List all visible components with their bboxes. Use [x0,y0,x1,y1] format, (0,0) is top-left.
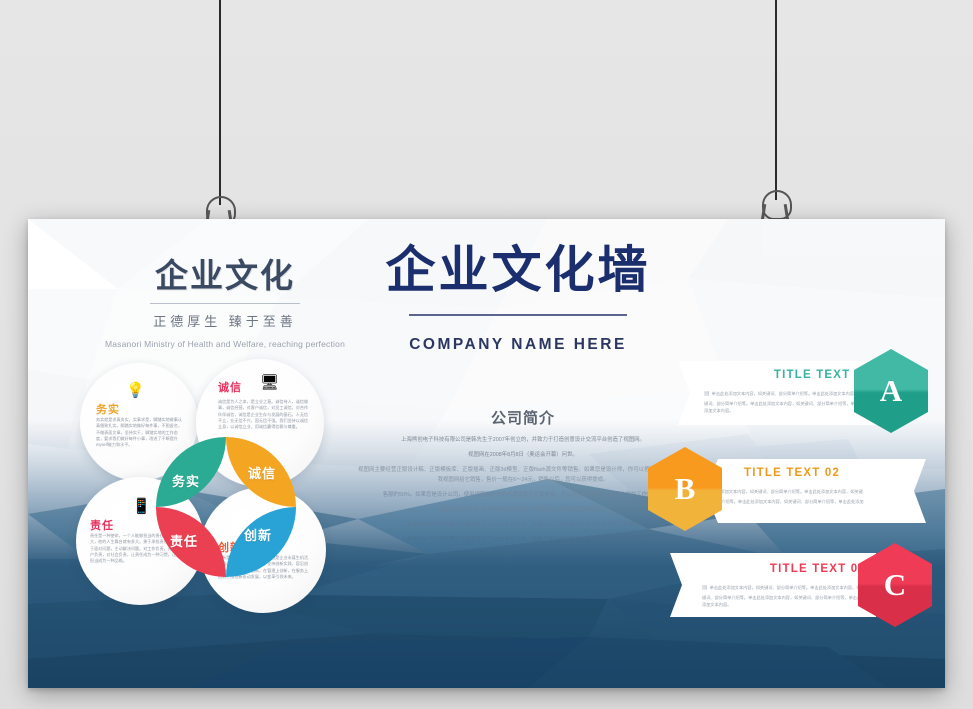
feature-row-c[interactable]: TITLE TEXT 03 单击此处添加文本内容，如关键词、部分简单介绍等。单击… [670,541,932,633]
hanging-wire-right [775,0,777,200]
feature-letter: C [884,567,906,603]
feature-letter: A [880,373,902,409]
pinwheel-label: 诚信 [248,463,276,482]
title-divider [409,314,627,316]
intro-paragraph: 视图网主要经营正版设计稿、正版模板库、正版插画、正版3d模型、正版flash源文… [358,465,688,485]
lightbulb-icon: 💡 [126,383,145,398]
intro-paragraph: 上海熊创电子科技有限公司是韩先生于2007年创立的，并致力于打造创意设计交流平台… [358,435,688,445]
pinwheel-segment-chuangxin[interactable]: 创新 [226,507,296,577]
center-heading-block: 企业文化墙 COMPANY NAME HERE [358,243,678,354]
feature-title: TITLE TEXT 03 [770,563,866,575]
intro-paragraph: 视图网在2008年8月8日（奥运会开幕）问世。 [358,450,688,460]
feature-title: TITLE TEXT 02 [744,467,840,479]
feature-row-a[interactable]: TITLE TEXT 01 单击此处添加文本内容，如关键词、部分简单介绍等。单击… [678,349,928,437]
pinwheel-segment-chengxin[interactable]: 诚信 [226,437,296,507]
feature-letter: B [675,471,696,507]
scene: 企业文化 正德厚生 臻于至善 Masanori Ministry of Heal… [0,0,973,709]
pinwheel-label: 责任 [170,531,198,550]
pinwheel-diagram: 务实 诚信 责任 创新 [156,437,296,577]
bubble-heading: 责任 [90,517,114,533]
feature-body: 单击此处添加文本内容，如关键词、部分简单介绍等。单击此处添加文本内容，如关键词、… [702,583,868,608]
intro-paragraph: 售额的50%。如果您是设计公司，使用视图网提供的代理销售的正版模板，可以显著的提… [358,490,688,500]
pinwheel-segment-zeren[interactable]: 责任 [156,507,226,577]
feature-body: 单击此处添加文本内容，如关键词、部分简单介绍等。单击此处添加文本内容，如关键词、… [704,389,870,414]
left-divider [150,303,300,304]
poster-board: 企业文化 正德厚生 臻于至善 Masanori Ministry of Heal… [28,219,945,688]
pinwheel-label: 务实 [172,471,200,490]
intro-paragraph: 上海熊创电子科技有限公司是韩先生于2007年创立的，并致力于打造创意设计交流平台… [358,535,688,545]
intro-paragraph: 上海熊创电子科技有限公司是韩先生于2007年创立的，并致力于打造创意设计交流平台… [358,520,688,530]
company-intro-block: 公司简介 上海熊创电子科技有限公司是韩先生于2007年创立的，并致力于打造创意设… [358,407,688,550]
bubble-body: 诚信是为人之本，是立业之基。诚信待人，诚信做事，诚信经营。对客户诚信，对员工诚信… [218,399,310,431]
left-heading-block: 企业文化 正德厚生 臻于至善 Masanori Ministry of Heal… [90,259,360,350]
page-title: 企业文化墙 [358,243,678,298]
bubble-heading: 务实 [96,401,120,417]
hanging-wire-left [219,0,221,205]
left-subtitle: 正德厚生 臻于至善 [90,311,360,330]
smartphone-icon: 📱 [132,499,151,514]
pinwheel-label: 创新 [244,525,272,544]
culture-bubble-cluster: 💡 务实 务实就是求真务实，实事求是，脚踏实地做事认真细致扎实。脚踏实地做好每件… [76,359,376,619]
feature-row-b[interactable]: TITLE TEXT 02 单击此处添加文本内容，如关键词、部分简单介绍等。单击… [648,447,913,535]
company-name: COMPANY NAME HERE [358,336,678,354]
feature-hexagon-b[interactable]: B [648,447,722,531]
left-title: 企业文化 [90,259,360,294]
bubble-heading: 诚信 [218,379,242,395]
intro-paragraph: 视图网持有"视类""视类网"商标在平面广告设计及其计算机互联网领域。 [358,505,688,515]
intro-heading: 公司简介 [358,407,688,428]
pinwheel-segment-wushi[interactable]: 务实 [156,437,226,507]
monitor-icon: 🖥 [260,375,279,390]
left-english-subtitle: Masanori Ministry of Health and Welfare,… [90,338,360,351]
